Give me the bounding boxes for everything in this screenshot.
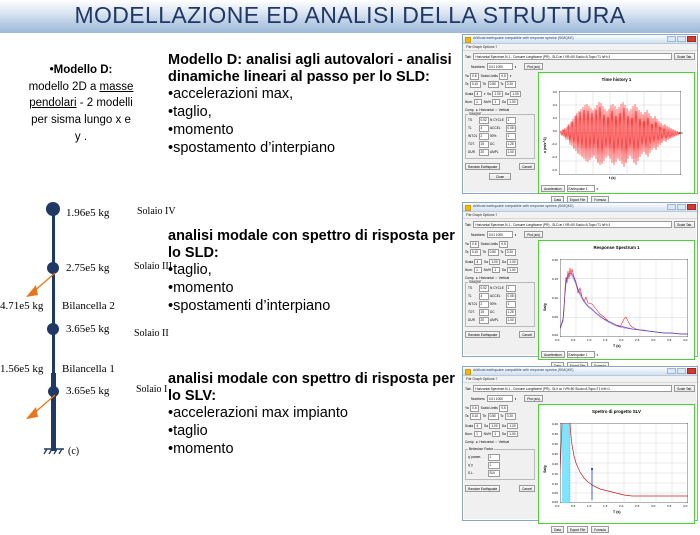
param-field-sa[interactable]: 1.00 <box>489 423 500 430</box>
pendulum-name-2: Bilancella 2 <box>62 300 115 312</box>
floor-label-1: Solaio I <box>136 384 167 395</box>
param-label-nhh: Nh/H <box>484 268 491 272</box>
behaviour-val-1[interactable]: 1 <box>488 462 500 469</box>
param-label-tb: Tb <box>482 82 486 86</box>
left-note-line1-text: modello 2D a <box>29 81 100 93</box>
param-field-ya[interactable]: 0.6 <box>470 73 479 80</box>
simqke-window-time-history[interactable]: Artificial earthquake compatible with re… <box>462 34 698 194</box>
simqke-val2-0[interactable]: 1 <box>506 117 516 124</box>
panel-action-row[interactable]: Random Earthquake Cancel <box>465 163 535 170</box>
param-field-da[interactable]: 1.00 <box>507 259 518 266</box>
param-label-ta: Ta <box>465 82 468 86</box>
tab-label: Tab. <box>465 55 471 59</box>
window-controls[interactable] <box>667 36 696 42</box>
panel-action-row[interactable]: Random Earthquake Cancel <box>465 485 535 492</box>
random-earthquake-button[interactable]: Random Earthquake <box>465 485 500 492</box>
param-field-scale-limits[interactable]: 0.5 <box>499 405 508 412</box>
param-field-num[interactable]: 1 <box>474 267 482 274</box>
param-field-tc[interactable]: 0.20 <box>505 249 516 256</box>
param-field-sa2[interactable]: 1.00 <box>507 99 518 106</box>
simqke-val2-4[interactable]: 1.00 <box>506 149 516 156</box>
simqke-row-1[interactable]: TL4ACCEL0.05 g <box>468 125 532 132</box>
param-field-da[interactable]: 1.00 <box>507 423 518 430</box>
chart-xlabel: T (s) <box>613 344 621 348</box>
ytick: 0.05 <box>545 491 558 495</box>
window-title: Artificial earthquake compatible with re… <box>473 204 574 208</box>
numbers-label: Numbers <box>471 397 485 401</box>
simqke-val2-4[interactable]: 1.00 <box>506 317 516 324</box>
ytick: 0.10 <box>545 482 558 486</box>
chart-xlabel: T (s) <box>613 510 621 514</box>
simqke-val2-2[interactable]: 1 <box>506 301 516 308</box>
base-label: (c) <box>68 446 79 457</box>
param-label-nhh: Nh/H <box>484 432 491 436</box>
param-row-0[interactable]: Ya 0.6 Scala Limits 0.5 <box>465 405 535 412</box>
minimize-button[interactable] <box>667 204 676 210</box>
param-field-scala[interactable]: 4 <box>474 91 482 98</box>
window-title: Artificial earthquake compatible with re… <box>473 36 574 40</box>
param-field-num[interactable]: 1 <box>474 431 482 438</box>
chart-title: Spettro di progetto SLV <box>539 409 694 414</box>
ytick: -0.2 <box>545 142 557 146</box>
behaviour-val-2[interactable]: SLV <box>488 470 500 477</box>
close-button[interactable] <box>687 368 696 374</box>
text-block-slv-modal: analisi modale con spettro di risposta p… <box>168 371 468 459</box>
numbers-label: Numbers <box>471 233 485 237</box>
block2-heading: analisi modale con spettro di risposta p… <box>168 228 458 262</box>
close-button[interactable] <box>687 204 696 210</box>
panel-close-row[interactable]: Close <box>465 173 535 180</box>
simqke-key2-2: 90% <box>490 134 504 138</box>
chevron-down-icon[interactable]: ▾ <box>510 74 512 78</box>
left-note-line2-text: - 2 modelli <box>77 97 133 109</box>
behaviour-key-1: q’ y <box>468 463 486 467</box>
slide-title-banner: MODELLAZIONE ED ANALISI DELLA STRUTTURA <box>0 0 700 33</box>
minimize-button[interactable] <box>667 368 676 374</box>
simqke-val2-3[interactable]: 1.25 <box>506 141 516 148</box>
floor-label-2: Solaio II <box>134 328 169 339</box>
cancel-button[interactable]: Cancel <box>519 485 535 492</box>
left-note-line2: pendolari - 2 modelli <box>6 95 156 112</box>
chart-pane-design-spectrum: Spettro di progetto SLV Sa/g 0.40 0.35 0… <box>538 404 695 524</box>
simqke-key-1: TL <box>468 294 477 298</box>
radio-vertical[interactable]: ○ <box>495 108 497 112</box>
block1-bullet-3: •spostamento d’interpiano <box>168 140 468 158</box>
toolbar-tab-row[interactable]: Tab. Horizontal Spectrum N.1 - Comune Lo… <box>463 383 697 393</box>
ytick: 0.05 <box>545 315 558 319</box>
param-label-sa2: Sa <box>502 100 506 104</box>
xtick: 2.5 <box>635 338 639 342</box>
parameter-panel[interactable]: Ya 0.6 Scala Limits 0.5 ▾ Ta 0.10 Tb 0.8… <box>463 71 537 196</box>
param-field-ya[interactable]: 0.6 <box>470 241 479 248</box>
simqke-val2-3[interactable]: 1.25 <box>506 309 516 316</box>
xtick: 2.0 <box>619 338 623 342</box>
param-field-tc[interactable]: 0.20 <box>505 81 516 88</box>
param-field-scale-limits[interactable]: 0.5 <box>499 241 508 248</box>
chevron-down-icon[interactable]: ▾ <box>597 187 599 191</box>
param-row-3[interactable]: Num. 1 Nh/H 1 Sa 1.00 <box>465 431 535 438</box>
simqke-val-1[interactable]: 4 <box>479 125 489 132</box>
mass-label-4: 1.96e5 kg <box>66 207 109 219</box>
simqke-window-design-spectrum[interactable]: Artificial earthquake compatible with re… <box>462 366 698 521</box>
plot-button[interactable]: Plot (s/s) <box>524 231 543 238</box>
data-button[interactable]: Data <box>551 526 564 533</box>
response-spectrum-plot <box>560 259 688 337</box>
block2-bullet-1: •momento <box>168 280 458 298</box>
ytick: 0.25 <box>545 452 558 456</box>
acceleration-button[interactable]: Acceleration <box>541 351 565 358</box>
block1-bullet-0: •accelerazioni max, <box>168 86 468 104</box>
xtick: 1.5 <box>603 504 607 508</box>
panel-action-row[interactable]: Random Earthquake Cancel <box>465 331 535 338</box>
param-label-nhh: Nh/H <box>484 100 491 104</box>
chart-title: Time history 1 <box>539 77 694 82</box>
param-label-tc: Tc <box>500 250 503 254</box>
param-field-scale-limits[interactable]: 0.5 <box>499 73 508 80</box>
tab-value-field[interactable]: Horizontal Spectrum N.1 - Comune Longtho… <box>473 221 672 228</box>
component-radio-row[interactable]: Comp. ● Horizontal ○ Vertical <box>465 440 535 444</box>
param-label-sa: Sa <box>484 260 488 264</box>
cancel-button[interactable]: Cancel <box>519 331 535 338</box>
param-label-ta: Ta <box>465 414 468 418</box>
formula-button[interactable]: Formula <box>591 526 609 533</box>
behaviour-row-1[interactable]: q’ y1 <box>468 462 532 469</box>
tab-value-field[interactable]: Horizontal Spectrum N.1 - Comune Longtho… <box>473 385 672 392</box>
simqke-key-4: DUR <box>468 150 477 154</box>
window-title: Artificial earthquake compatible with re… <box>473 368 574 372</box>
simqke-group: SIMQKE TS0.02N CYCLE1 TL4ACCEL0.05 g INT… <box>465 282 535 327</box>
simqke-key2-1: ACCEL <box>490 294 504 298</box>
block1-heading: Modello D: analisi agli autovalori - ana… <box>168 52 468 86</box>
mass-label-1: 3.65e5 kg <box>66 385 109 397</box>
param-label-scala: Scala <box>465 260 473 264</box>
menu-bar[interactable]: File Graph Options ? <box>463 376 697 383</box>
param-label-sa: Sa <box>487 92 491 96</box>
param-field-ya[interactable]: 0.6 <box>470 405 479 412</box>
close-panel-button[interactable]: Close <box>489 173 511 180</box>
block1-bullet-1: •taglio, <box>168 104 468 122</box>
simqke-val-3[interactable]: 15 <box>479 141 489 148</box>
mass-node-2 <box>47 323 59 335</box>
ytick: 0.20 <box>545 462 558 466</box>
simqke-row-1[interactable]: TL4ACCEL0.05 g <box>468 293 532 300</box>
parameter-panel[interactable]: Ya 0.6 Scala Limits 0.5 Ta 0.10 Tb 0.80 … <box>463 403 537 526</box>
radio-horizontal[interactable]: ● <box>476 440 478 444</box>
param-row-3[interactable]: Num. 1 Nh/H 1 Sa 1.00 <box>465 267 535 274</box>
minimize-button[interactable] <box>667 36 676 42</box>
xtick: 3.0 <box>651 338 655 342</box>
simqke-val2-1[interactable]: 0.05 g <box>506 125 516 132</box>
param-field-tb[interactable]: 0.80 <box>488 249 499 256</box>
xtick: 2.5 <box>635 504 639 508</box>
left-note-line1: modello 2D a masse <box>6 79 156 96</box>
simqke-row-3[interactable]: TOT.15DC1.25 <box>468 141 532 148</box>
left-model-note: •Modello D: modello 2D a masse pendolari… <box>6 62 156 145</box>
simqke-key-2: INT.01 <box>468 134 477 138</box>
chart-ylabel: Sa/g <box>543 303 547 311</box>
param-field-sa2[interactable]: 1.00 <box>507 431 518 438</box>
param-field-nhh[interactable]: 1 <box>492 267 500 274</box>
xtick: 2.0 <box>619 504 623 508</box>
simqke-window-response-spectrum[interactable]: Artificial earthquake compatible with re… <box>462 202 698 357</box>
simqke-val-3[interactable]: 15 <box>479 309 489 316</box>
xtick: 4.0 <box>683 338 687 342</box>
plot-button[interactable]: Plot (s/s) <box>524 63 543 70</box>
base-support-icon <box>42 445 66 457</box>
simqke-row-2[interactable]: INT.01290%1 <box>468 301 532 308</box>
toolbar-tab-row[interactable]: Tab. Horizontal Spectrum N.1 - Comune Lo… <box>463 51 697 61</box>
behaviour-key-2: S.L. <box>468 471 486 475</box>
param-label-scale-limits: Scala Limits <box>481 406 498 410</box>
xtick: 4.0 <box>683 504 687 508</box>
menu-bar[interactable]: File Graph Options ? <box>463 44 697 51</box>
pendulum-arrow-1 <box>22 393 58 423</box>
simqke-val-0[interactable]: 0.02 <box>479 285 489 292</box>
xtick: 0.0 <box>555 504 559 508</box>
param-row-1[interactable]: Ta 0.10 Tb 0.80 Tc 0.20 <box>465 249 535 256</box>
param-label-num: Num. <box>465 268 473 272</box>
param-label-ya: Ya <box>465 406 469 410</box>
time-history-plot <box>559 91 681 175</box>
window-body: Ya 0.6 Scala Limits 0.5 Ta 0.10 Tb 0.80 … <box>463 403 697 526</box>
radio-vertical-label: Vertical <box>499 108 509 112</box>
ytick: 0.4 <box>546 103 557 107</box>
simqke-val2-0[interactable]: 1 <box>506 285 516 292</box>
param-field-tb[interactable]: 0.80 <box>488 81 499 88</box>
param-field-sa2[interactable]: 1.00 <box>507 267 518 274</box>
ytick: -0.6 <box>545 168 557 172</box>
text-block-sld-timehistory: Modello D: analisi agli autovalori - ana… <box>168 52 468 158</box>
ytick: 0.40 <box>545 422 558 426</box>
xtick: 0.0 <box>555 338 559 342</box>
scale-tab-button[interactable]: Scale Tab. <box>674 221 695 228</box>
param-row-3[interactable]: Num. 1 Nh/H 1 Sa 1.00 <box>465 99 535 106</box>
maximize-button[interactable] <box>677 36 686 42</box>
param-label-tb: Tb <box>482 414 486 418</box>
series-select[interactable]: Earthquake 1 <box>567 351 595 358</box>
cancel-button[interactable]: Cancel <box>519 163 535 170</box>
param-field-ta[interactable]: 0.10 <box>470 413 481 420</box>
simqke-key-3: TOT. <box>468 142 477 146</box>
simqke-key-0: TS <box>468 118 477 122</box>
simqke-key-0: TS <box>468 286 477 290</box>
param-label-num: Num. <box>465 432 473 436</box>
chart-controls[interactable]: Acceleration Earthquake 1 ▾ <box>541 351 598 358</box>
ytick: 0.10 <box>545 296 558 300</box>
tab-value-field[interactable]: Horizontal Spectrum N.1 - Comune Longtho… <box>473 53 672 60</box>
chevron-down-icon[interactable]: ▾ <box>515 397 517 401</box>
window-body: Ya 0.6 Scala Limits 0.5 Ta 0.10 Tb 0.80 … <box>463 239 697 362</box>
radio-vertical-label: Vertical <box>499 276 509 280</box>
ytick: 0.0 <box>546 129 557 133</box>
behaviour-val-0[interactable]: 1 <box>488 454 500 461</box>
param-field-ta[interactable]: 0.10 <box>470 249 481 256</box>
param-field-nhh[interactable]: 1 <box>492 431 500 438</box>
component-label: Comp. <box>465 440 474 444</box>
toolbar-numbers-row[interactable]: Numbers 0.01 1000 ▾ Plot (s/s) <box>463 61 697 71</box>
param-label-ta: Ta <box>465 250 468 254</box>
xtick: 0.5 <box>571 504 575 508</box>
mass-node-4 <box>46 202 60 216</box>
tab-label: Tab. <box>465 223 471 227</box>
param-row-2[interactable]: Scala 4 Sa 1.00 Da 1.00 <box>465 259 535 266</box>
app-icon <box>465 205 471 211</box>
param-label-scale-limits: Scala Limits <box>481 74 498 78</box>
ytick: 0.2 <box>546 116 557 120</box>
param-field-tc[interactable]: 0.20 <box>505 413 516 420</box>
param-row-2[interactable]: Scala 4 ▾ Sa 1.00 Da 1.00 <box>465 91 535 98</box>
left-note-line2-underline: pendolari <box>29 97 76 109</box>
mass-label-2: 3.65e5 kg <box>66 323 109 335</box>
simqke-key-1: TL <box>468 126 477 130</box>
menu-bar[interactable]: File Graph Options ? <box>463 212 697 219</box>
simqke-val2-1[interactable]: 0.05 g <box>506 293 516 300</box>
numbers-field[interactable]: 0.01 1000 <box>487 63 513 70</box>
window-body: Ya 0.6 Scala Limits 0.5 ▾ Ta 0.10 Tb 0.8… <box>463 71 697 196</box>
structural-stick-model: (c) 1.96e5 kg 2.75e5 kg 3.65e5 kg 3.65e5… <box>0 195 170 470</box>
window-titlebar[interactable]: Artificial earthquake compatible with re… <box>463 35 697 44</box>
plot-button[interactable]: Plot (s/s) <box>524 395 543 402</box>
app-icon <box>465 37 471 43</box>
maximize-button[interactable] <box>677 368 686 374</box>
block3-bullet-0: •accelerazioni max impianto <box>168 405 468 423</box>
simqke-val-4[interactable]: 20 <box>479 149 489 156</box>
toolbar-tab-row[interactable]: Tab. Horizontal Spectrum N.1 - Comune Lo… <box>463 219 697 229</box>
bottom-button-row[interactable]: Data Export File Formula <box>463 526 697 535</box>
chart-pane-time-history: Time history 1 a (m/s^2) 0.6 0.4 0.2 0.0… <box>538 72 695 194</box>
simqke-row-3[interactable]: TOT.15DC1.25 <box>468 309 532 316</box>
simqke-key2-3: DC <box>490 310 504 314</box>
ytick: 0.15 <box>545 472 558 476</box>
simqke-row-4[interactable]: DUR20AMPL1.00 <box>468 149 532 156</box>
param-label-da: Da <box>502 260 506 264</box>
simqke-key2-4: AMPL <box>490 150 504 154</box>
export-file-button[interactable]: Export File <box>567 526 588 533</box>
random-earthquake-button[interactable]: Random Earthquake <box>465 163 500 170</box>
simqke-val-0[interactable]: 0.02 <box>479 117 489 124</box>
chart-title: Response Spectrum 1 <box>539 245 694 250</box>
left-note-line3: per sisma lungo x e <box>6 112 156 129</box>
simqke-row-4[interactable]: DUR20AMPL1.00 <box>468 317 532 324</box>
param-label-scala: Scala <box>465 92 473 96</box>
param-field-nhh[interactable]: 1 <box>492 99 500 106</box>
param-field-num[interactable]: 1 <box>474 99 482 106</box>
simqke-key-2: INT.01 <box>468 302 477 306</box>
maximize-button[interactable] <box>677 204 686 210</box>
ytick: 0.6 <box>546 90 557 94</box>
simqke-key2-1: ACCEL <box>490 126 504 130</box>
simqke-val-4[interactable]: 20 <box>479 317 489 324</box>
radio-vertical[interactable]: ○ <box>495 440 497 444</box>
param-label-tb: Tb <box>482 250 486 254</box>
simqke-row-2[interactable]: INT.01290%1 <box>468 133 532 140</box>
window-controls[interactable] <box>667 204 696 210</box>
simqke-row-0[interactable]: TS0.02N CYCLE1 <box>468 285 532 292</box>
xtick: 1.5 <box>603 338 607 342</box>
numbers-field[interactable]: 0.01 1000 <box>487 231 513 238</box>
behaviour-row-0[interactable]: q’ param.1 <box>468 454 532 461</box>
toolbar-numbers-row[interactable]: Numbers 0.01 1000 ▾ Plot (s/s) <box>463 393 697 403</box>
param-row-0[interactable]: Ya 0.6 Scala Limits 0.5 ▾ <box>465 73 535 80</box>
simqke-row-0[interactable]: TS0.02N CYCLE1 <box>468 117 532 124</box>
chart-pane-response-spectrum: Response Spectrum 1 Sa/g 0.20 0.15 0.10 … <box>538 240 695 360</box>
simqke-group-label: SIMQKE <box>468 112 482 116</box>
scale-tab-button[interactable]: Scale Tab. <box>674 385 695 392</box>
block2-bullet-2: •spostamenti d’interpiano <box>168 298 458 316</box>
param-field-da[interactable]: 1.00 <box>510 91 521 98</box>
param-row-2[interactable]: Scala 4 Sa 1.00 Da 1.00 <box>465 423 535 430</box>
ytick: -0.4 <box>545 155 557 159</box>
left-note-heading: •Modello D: <box>6 62 156 79</box>
param-field-scala[interactable]: 4 <box>474 259 482 266</box>
chevron-down-icon[interactable]: ▾ <box>515 233 517 237</box>
window-titlebar[interactable]: Artificial earthquake compatible with re… <box>463 203 697 212</box>
close-button[interactable] <box>687 36 696 42</box>
mass-label-3: 2.75e5 kg <box>66 262 109 274</box>
random-earthquake-button[interactable]: Random Earthquake <box>465 331 500 338</box>
floor-label-4: Solaio IV <box>137 206 176 217</box>
block1-bullet-2: •momento <box>168 122 468 140</box>
simqke-val-2[interactable]: 2 <box>479 301 489 308</box>
simqke-val2-2[interactable]: 1 <box>506 133 516 140</box>
acceleration-button[interactable]: Acceleration <box>541 185 565 192</box>
simqke-group-label: SIMQKE <box>468 280 482 284</box>
scale-tab-button[interactable]: Scale Tab. <box>674 53 695 60</box>
ytick: 0.15 <box>545 277 558 281</box>
chevron-down-icon[interactable]: ▾ <box>515 65 517 69</box>
window-controls[interactable] <box>667 368 696 374</box>
simqke-key2-2: 90% <box>490 302 504 306</box>
param-row-1[interactable]: Ta 0.10 Tb 0.80 Tc 0.20 <box>465 413 535 420</box>
param-row-0[interactable]: Ya 0.6 Scala Limits 0.5 <box>465 241 535 248</box>
param-field-sa[interactable]: 1.00 <box>492 91 503 98</box>
xtick: 3.0 <box>651 504 655 508</box>
block3-bullet-1: •taglio <box>168 423 468 441</box>
param-label-sa2: Sa <box>502 268 506 272</box>
ytick: 0.30 <box>545 442 558 446</box>
param-label-num: Num. <box>465 100 473 104</box>
xtick: 0.5 <box>571 338 575 342</box>
series-select[interactable]: Earthquake 1 <box>567 185 595 192</box>
ytick: 0.20 <box>545 258 558 262</box>
param-field-ta[interactable]: 0.10 <box>470 81 481 88</box>
param-label-da: Da <box>502 424 506 428</box>
pendulum-arrow-2 <box>22 271 58 301</box>
param-label-da: Da <box>505 92 509 96</box>
xtick: 3.5 <box>667 504 671 508</box>
simqke-val-1[interactable]: 4 <box>479 293 489 300</box>
param-field-scala[interactable]: 4 <box>474 423 482 430</box>
xtick: 1.0 <box>587 338 591 342</box>
param-field-sa[interactable]: 1.00 <box>489 259 500 266</box>
window-titlebar[interactable]: Artificial earthquake compatible with re… <box>463 367 697 376</box>
behaviour-factor-label: Behaviour Factor <box>468 447 494 451</box>
chevron-down-icon[interactable]: ▾ <box>484 92 486 96</box>
radio-vertical-label: Vertical <box>499 440 509 444</box>
simqke-val-2[interactable]: 2 <box>479 133 489 140</box>
behaviour-row-2[interactable]: S.L.SLV <box>468 470 532 477</box>
param-field-tb[interactable]: 0.80 <box>488 413 499 420</box>
toolbar-numbers-row[interactable]: Numbers 0.01 1000 ▾ Plot (s/s) <box>463 229 697 239</box>
parameter-panel[interactable]: Ya 0.6 Scala Limits 0.5 Ta 0.10 Tb 0.80 … <box>463 239 537 362</box>
tab-label: Tab. <box>465 387 471 391</box>
param-row-1[interactable]: Ta 0.10 Tb 0.80 Tc 0.20 <box>465 81 535 88</box>
radio-vertical[interactable]: ○ <box>495 276 497 280</box>
chevron-down-icon[interactable]: ▾ <box>597 353 599 357</box>
param-label-tc: Tc <box>500 414 503 418</box>
numbers-field[interactable]: 0.01 1000 <box>487 395 513 402</box>
chart-controls[interactable]: Acceleration Earthquake 1 ▾ <box>541 185 598 192</box>
